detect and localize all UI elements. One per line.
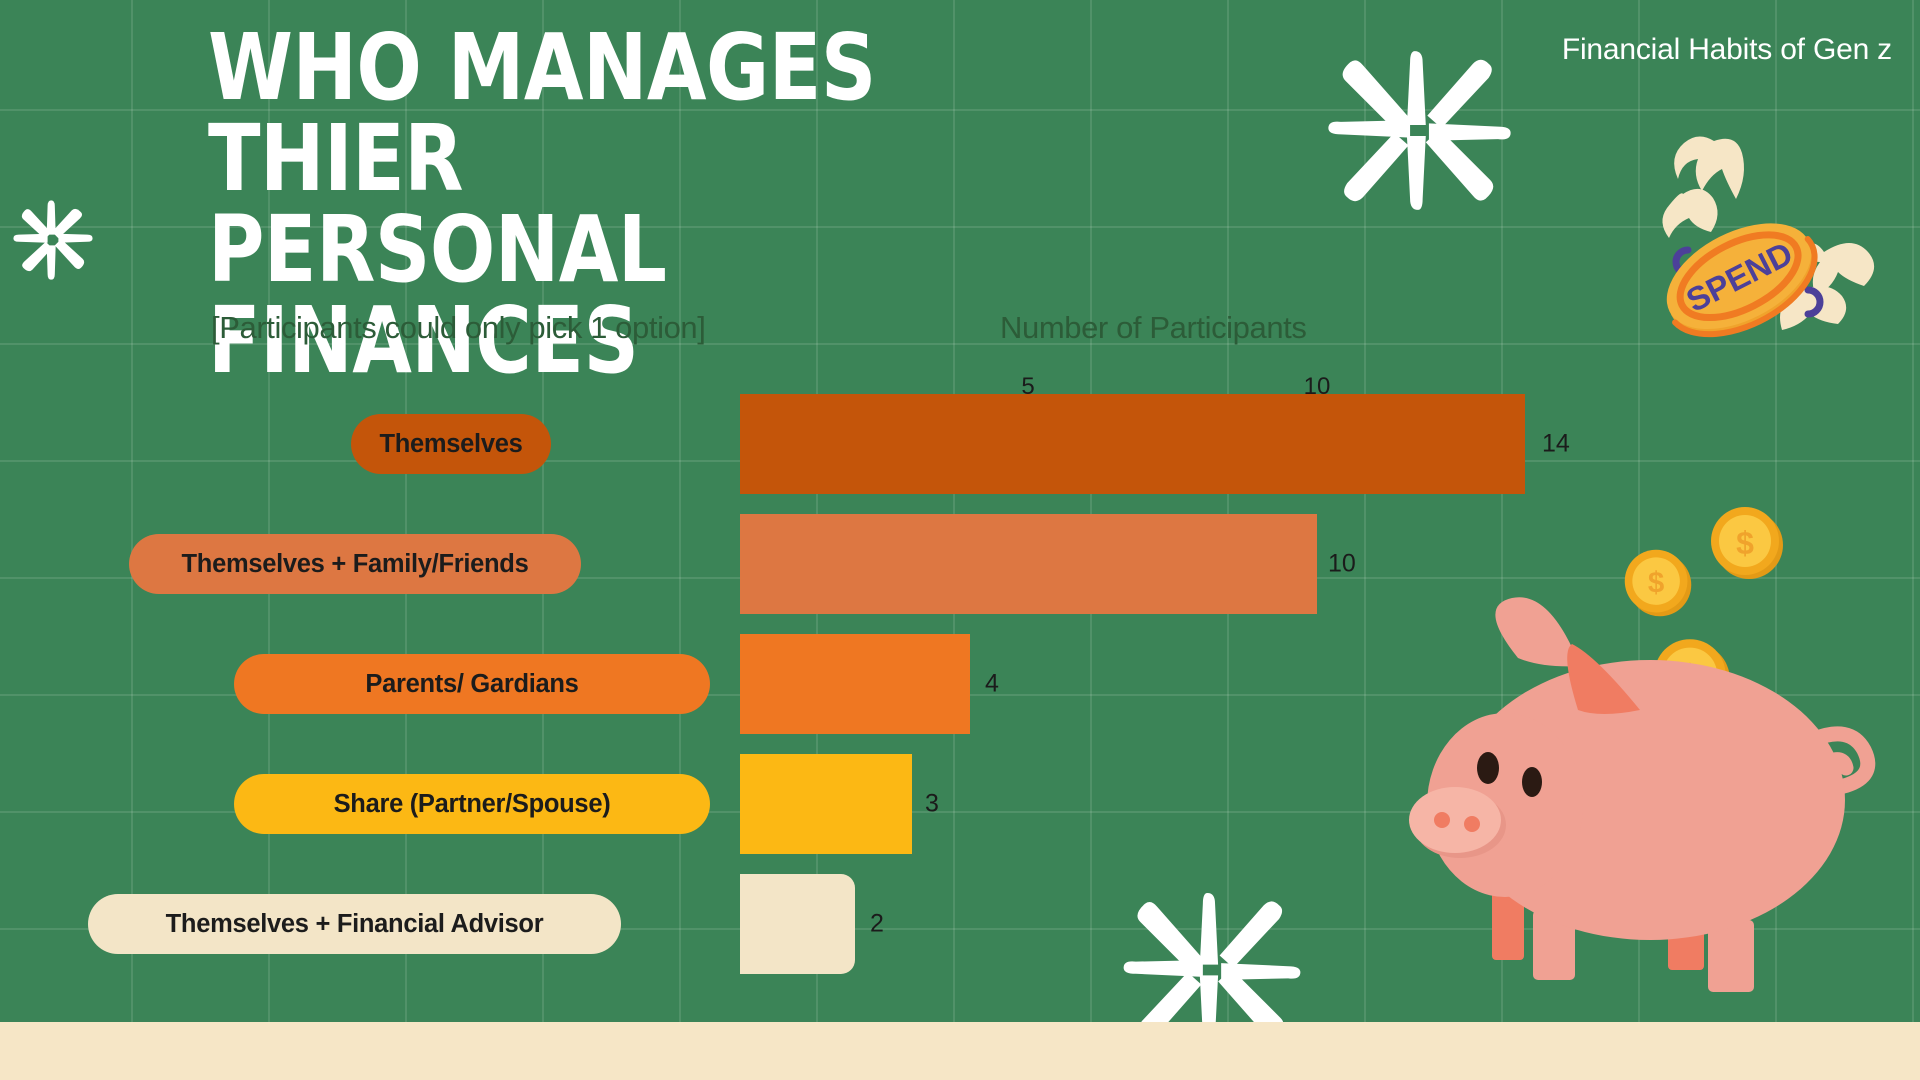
category-pill: Share (Partner/Spouse) — [234, 774, 710, 834]
bar-value-label: 2 — [870, 910, 884, 939]
bar-segment — [740, 394, 1525, 494]
category-label: Themselves + Financial Advisor — [166, 910, 544, 939]
category-pill: Themselves + Financial Advisor — [88, 894, 621, 954]
bar-segment — [740, 754, 912, 854]
bar-value-label: 4 — [985, 670, 999, 699]
bar-value-label: 14 — [1542, 430, 1570, 459]
category-label: Themselves + Family/Friends — [182, 550, 529, 579]
category-pill: Themselves + Family/Friends — [129, 534, 581, 594]
category-label: Themselves — [379, 430, 522, 459]
category-pill: Themselves — [351, 414, 551, 474]
footer-strip — [0, 1022, 1920, 1080]
bar-chart: 5 10 Themselves 14 Themselves + Family/F… — [0, 0, 1920, 1080]
bar-segment — [740, 874, 855, 974]
bar-segment — [740, 514, 1317, 614]
category-label: Share (Partner/Spouse) — [334, 790, 611, 819]
bar-segment — [740, 634, 970, 734]
bar-value-label: 3 — [925, 790, 939, 819]
category-label: Parents/ Gardians — [365, 670, 578, 699]
category-pill: Parents/ Gardians — [234, 654, 710, 714]
bar-value-label: 10 — [1328, 550, 1356, 579]
